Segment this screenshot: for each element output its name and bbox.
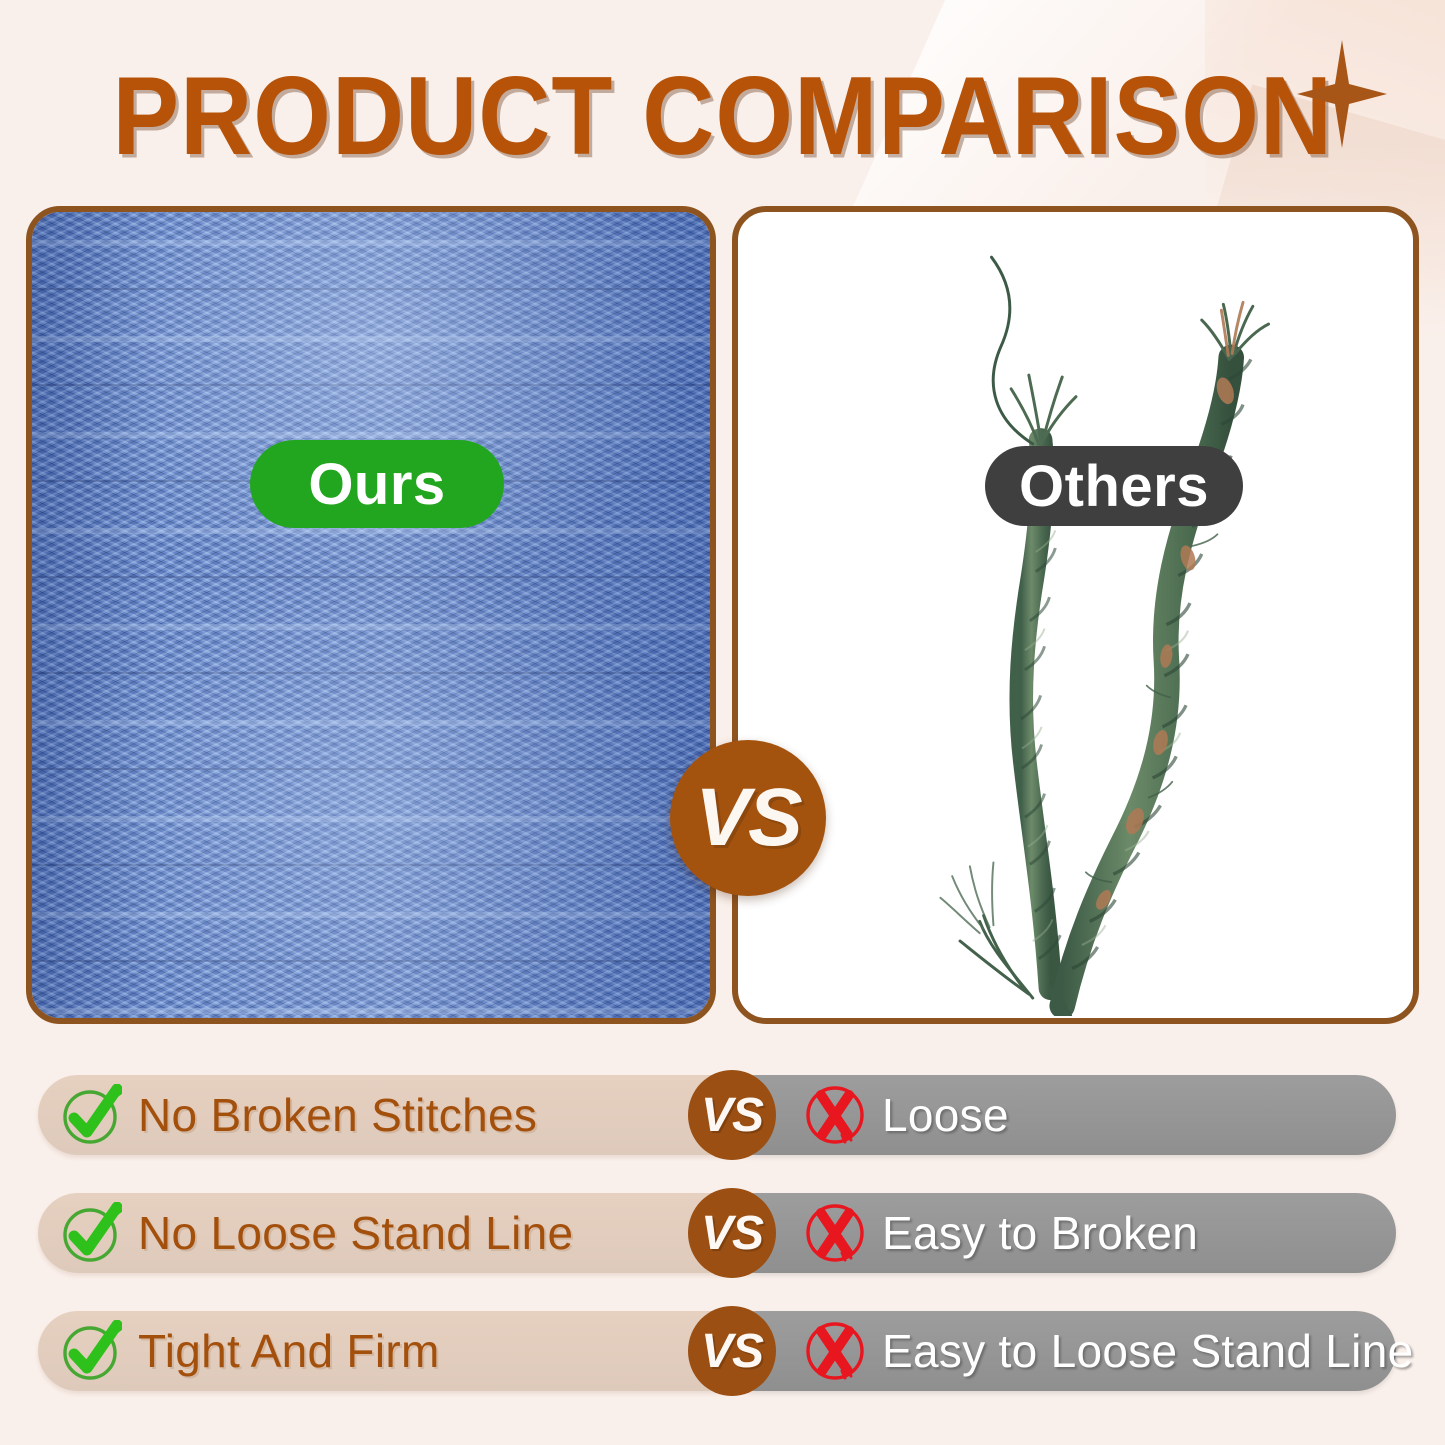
badge-others-label: Others — [1019, 453, 1209, 520]
green-check-icon — [60, 1320, 122, 1382]
page-title: PRODUCT COMPARISON — [112, 53, 1333, 181]
ours-feature-pill: Tight And Firm — [38, 1311, 758, 1391]
red-cross-icon — [804, 1320, 866, 1382]
badge-others: Others — [985, 446, 1243, 526]
blue-thread-image — [32, 212, 710, 1018]
row-vs-label: VS — [701, 1088, 763, 1143]
page-title-wrap: PRODUCT COMPARISON — [0, 62, 1445, 172]
comparison-panels: Ours Others VS — [26, 206, 1419, 1024]
badge-ours: Ours — [250, 440, 504, 528]
green-rope-image — [738, 212, 1413, 1016]
others-feature-label: Loose — [882, 1088, 1009, 1142]
ours-feature-pill: No Loose Stand Line — [38, 1193, 758, 1273]
others-feature-pill: Easy to Broken — [716, 1193, 1396, 1273]
comparison-row: Tight And Firm Easy to Loose Stand Line … — [0, 1311, 1445, 1391]
comparison-row: No Broken Stitches Loose VS — [0, 1075, 1445, 1155]
vs-medallion-label: VS — [695, 771, 800, 865]
comparison-rows: No Broken Stitches Loose VS No Loose Sta… — [0, 1075, 1445, 1429]
others-feature-pill: Easy to Loose Stand Line — [716, 1311, 1396, 1391]
others-feature-label: Easy to Loose Stand Line — [882, 1324, 1413, 1378]
green-check-icon — [60, 1084, 122, 1146]
ours-feature-label: Tight And Firm — [138, 1324, 440, 1378]
badge-ours-label: Ours — [308, 451, 445, 518]
ours-feature-pill: No Broken Stitches — [38, 1075, 758, 1155]
comparison-row: No Loose Stand Line Easy to Broken VS — [0, 1193, 1445, 1273]
panel-others — [732, 206, 1419, 1024]
red-cross-icon — [804, 1084, 866, 1146]
row-vs-label: VS — [701, 1324, 763, 1379]
row-vs-badge: VS — [688, 1306, 776, 1396]
row-vs-badge: VS — [688, 1070, 776, 1160]
vs-medallion: VS — [670, 740, 826, 896]
red-cross-icon — [804, 1202, 866, 1264]
sparkle-star-icon — [1297, 40, 1387, 148]
row-vs-badge: VS — [688, 1188, 776, 1278]
ours-feature-label: No Broken Stitches — [138, 1088, 537, 1142]
panel-ours — [26, 206, 716, 1024]
others-feature-label: Easy to Broken — [882, 1206, 1198, 1260]
row-vs-label: VS — [701, 1206, 763, 1261]
green-check-icon — [60, 1202, 122, 1264]
others-feature-pill: Loose — [716, 1075, 1396, 1155]
ours-feature-label: No Loose Stand Line — [138, 1206, 573, 1260]
